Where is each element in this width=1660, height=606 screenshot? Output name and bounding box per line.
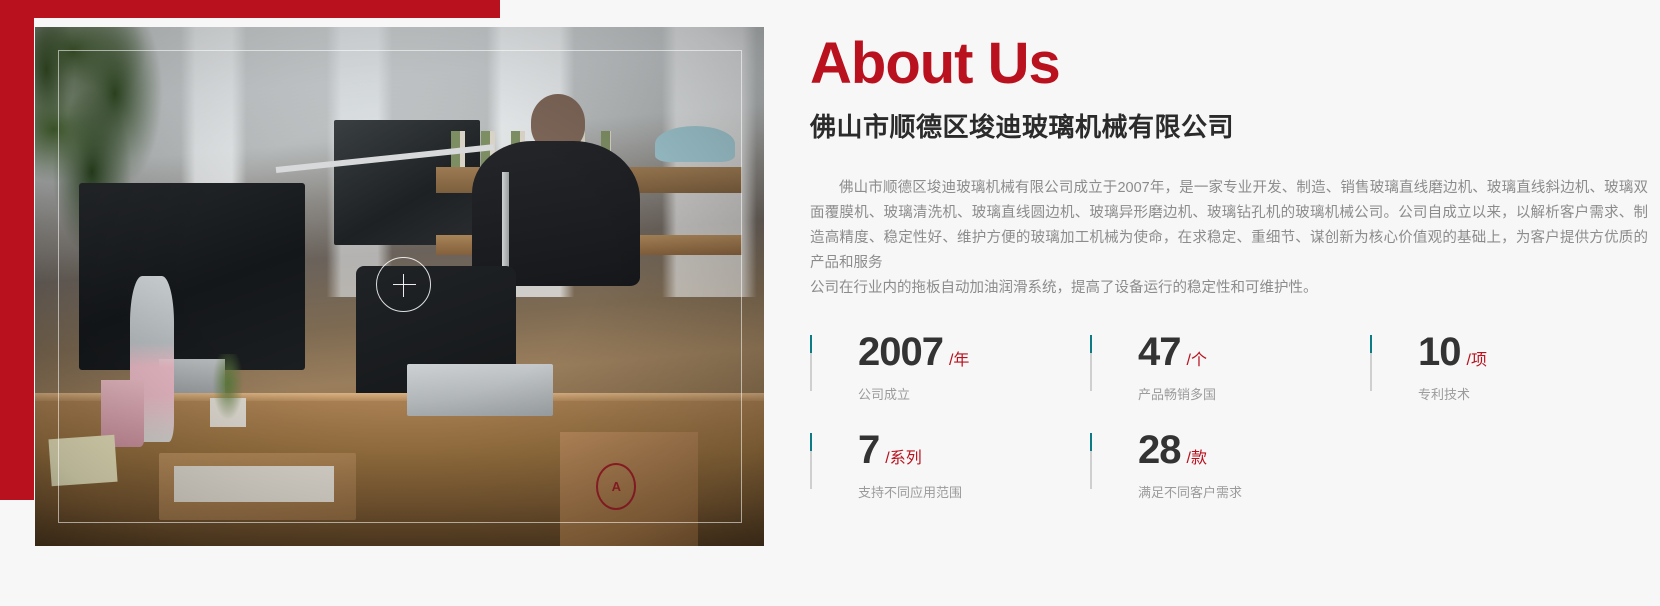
accent-rule	[810, 335, 812, 391]
accent-rule	[1090, 335, 1092, 391]
stat-label: 公司成立	[858, 384, 1090, 403]
stat-value-row: 47 /个	[1138, 332, 1370, 372]
company-name: 佛山市顺德区埈迪玻璃机械有限公司	[810, 107, 1234, 144]
stat-unit: /款	[1187, 444, 1207, 468]
stat-unit: /个	[1187, 346, 1207, 370]
about-paragraph-2: 公司在行业内的拖板自动加油润滑系统，提高了设备运行的稳定性和可维护性。	[810, 276, 1648, 301]
red-accent-bar-left	[0, 0, 34, 500]
stat-value-row: 7 /系列	[858, 430, 1090, 470]
stat-card-countries: 47 /个 产品畅销多国	[1090, 332, 1370, 394]
stat-unit: /项	[1467, 346, 1487, 370]
statistics-grid: 2007 /年 公司成立 47 /个 产品畅销多国 10 /项 专利技术 7	[810, 332, 1650, 492]
stat-label: 支持不同应用范围	[858, 482, 1090, 501]
stat-value-row: 2007 /年	[858, 332, 1090, 372]
stat-unit: /系列	[885, 444, 921, 468]
stat-card-company-founded: 2007 /年 公司成立	[810, 332, 1090, 394]
accent-rule	[1090, 433, 1092, 489]
stat-card-patents: 10 /项 专利技术	[1370, 332, 1650, 394]
stat-label: 专利技术	[1418, 384, 1650, 403]
stat-label: 产品畅销多国	[1138, 384, 1370, 403]
stat-card-series: 7 /系列 支持不同应用范围	[810, 430, 1090, 492]
page-title: About Us	[810, 35, 1060, 93]
stat-card-models: 28 /款 满足不同客户需求	[1090, 430, 1370, 492]
stat-number: 2007	[858, 332, 943, 372]
stat-number: 7	[858, 430, 879, 470]
plus-icon[interactable]	[376, 257, 431, 312]
about-content-panel: About Us 佛山市顺德区埈迪玻璃机械有限公司 佛山市顺德区埈迪玻璃机械有限…	[810, 0, 1660, 606]
stat-number: 28	[1138, 430, 1181, 470]
stat-number: 10	[1418, 332, 1461, 372]
accent-rule	[1370, 335, 1372, 391]
accent-rule	[810, 433, 812, 489]
stat-value-row: 10 /项	[1418, 332, 1650, 372]
about-description: 佛山市顺德区埈迪玻璃机械有限公司成立于2007年，是一家专业开发、制造、销售玻璃…	[810, 176, 1648, 301]
red-accent-bar-top	[0, 0, 500, 18]
stat-unit: /年	[949, 346, 969, 370]
stat-number: 47	[1138, 332, 1181, 372]
about-visual-panel	[0, 0, 775, 606]
stat-value-row: 28 /款	[1138, 430, 1370, 470]
about-paragraph-1: 佛山市顺德区埈迪玻璃机械有限公司成立于2007年，是一家专业开发、制造、销售玻璃…	[810, 176, 1648, 276]
stat-label: 满足不同客户需求	[1138, 482, 1370, 501]
